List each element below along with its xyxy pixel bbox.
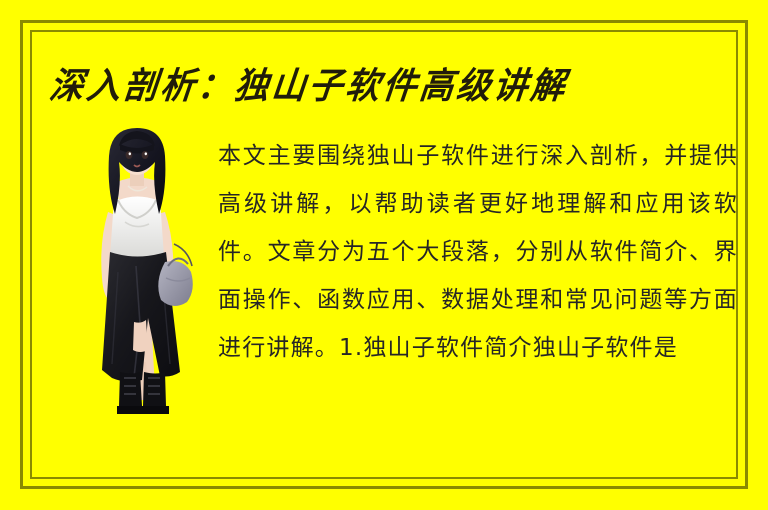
poster-canvas: 深入剖析：独山子软件高级讲解: [0, 0, 768, 510]
illustration-figure: [62, 126, 212, 418]
poster-body-text: 本文主要围绕独山子软件进行深入剖析，并提供高级讲解，以帮助读者更好地理解和应用该…: [218, 132, 738, 420]
woman-illustration-icon: [62, 126, 212, 418]
poster-title: 深入剖析：独山子软件高级讲解: [47, 57, 570, 109]
